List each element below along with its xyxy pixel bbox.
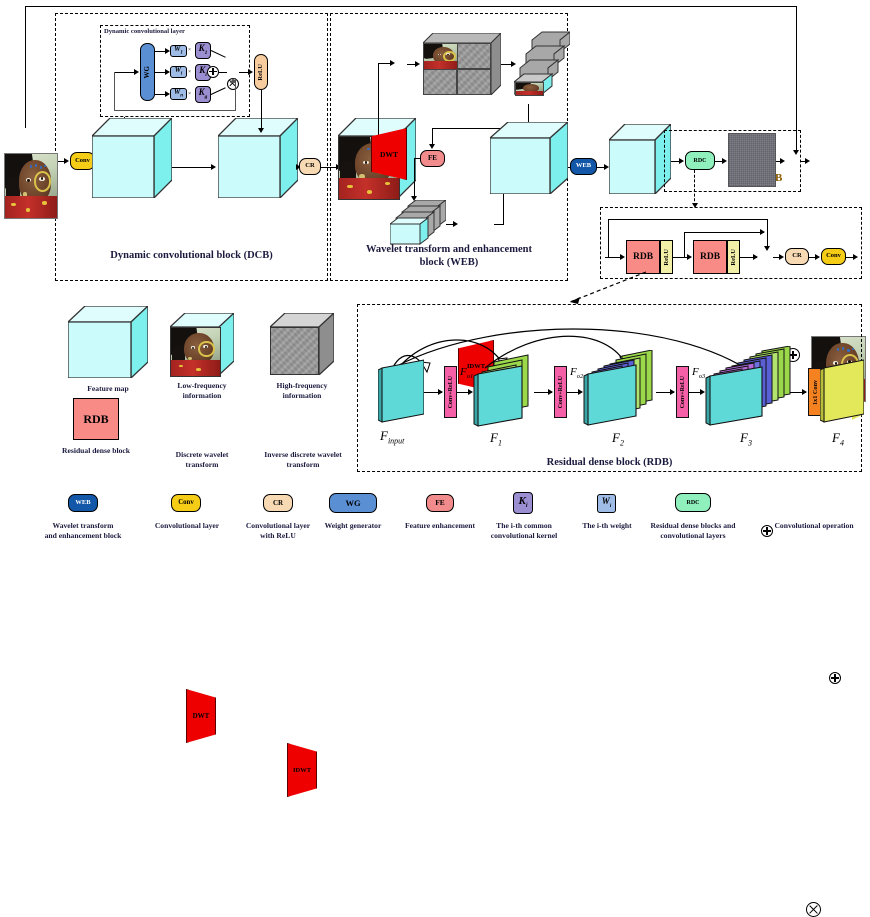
kernel-box-3[interactable]: Kg bbox=[195, 86, 211, 103]
lowfreq-highfreq-stack bbox=[390, 200, 446, 248]
weight-label-2: Wi bbox=[175, 67, 183, 76]
f1-to-cr2-arrow bbox=[548, 389, 553, 395]
dcb-caption: Dynamic convolutional block (DCB) bbox=[55, 250, 328, 263]
input-image bbox=[4, 153, 58, 219]
conv-relu-block-1[interactable]: Conv+ReLU bbox=[444, 366, 457, 418]
feature-map-cube-1 bbox=[92, 118, 172, 198]
conv-relu-block-3[interactable]: Conv+ReLU bbox=[676, 366, 689, 418]
input-to-conv-arrow bbox=[64, 158, 69, 164]
global-skip-line-left bbox=[25, 6, 26, 128]
rdb-label-f4: F4 bbox=[832, 430, 844, 448]
wg-to-w3-arrow bbox=[165, 91, 170, 97]
rdc-expand-connector bbox=[694, 170, 696, 206]
legend-dwt-icon: DWT bbox=[186, 689, 216, 743]
sum-operator-dcl bbox=[207, 66, 219, 78]
legend-high-frequency-label: High-frequency bbox=[250, 381, 354, 391]
conv-node-rdc[interactable]: Conv bbox=[821, 248, 846, 265]
legend-idwt-label: Inverse discrete wavelet bbox=[244, 450, 362, 460]
legend-feature-map-label: Feature map bbox=[58, 384, 158, 394]
legend-wg-label: Weight generator bbox=[311, 521, 395, 531]
web-caption-line1: Wavelet transform and enhancement bbox=[330, 244, 568, 257]
multiply-sign-3: × bbox=[188, 91, 191, 97]
cr-to-conv-arrow bbox=[815, 254, 820, 260]
highfreq-stack-top bbox=[514, 30, 570, 106]
fe-down-vline bbox=[414, 158, 415, 198]
relu-to-cube2-line bbox=[261, 90, 262, 130]
legend-fe-label: Feature enhancement bbox=[398, 521, 482, 531]
rdb-f2-planes bbox=[582, 350, 660, 428]
idwt-node[interactable]: IDWT bbox=[458, 340, 494, 392]
rdb-finput-plane bbox=[378, 358, 424, 424]
web-caption-line2: block (WEB) bbox=[330, 257, 568, 270]
rdb-label-2: RDB bbox=[700, 252, 720, 262]
dwt-node[interactable]: DWT bbox=[371, 128, 407, 180]
legend-rdc-icon: RDC bbox=[675, 493, 711, 512]
finput-to-cr1-arrow bbox=[438, 389, 443, 395]
legend-high-frequency-label2: information bbox=[250, 391, 354, 401]
legend-low-frequency-icon bbox=[170, 313, 234, 375]
legend-conv-operation-label: Convolutional operation bbox=[759, 521, 869, 531]
legend-rdc-label: Residual dense blocks and bbox=[637, 521, 749, 531]
conv-label-rdc: Conv bbox=[826, 253, 841, 260]
conv-relu-label-2: Conv+ReLU bbox=[558, 376, 564, 408]
legend-cr-text: CR bbox=[273, 500, 283, 507]
legend-rdb-text: RDB bbox=[83, 412, 108, 427]
cube1-to-cube2-arrow bbox=[211, 164, 216, 170]
fe-node[interactable]: FE bbox=[420, 150, 445, 167]
rdb-label-f3: F3 bbox=[740, 430, 752, 448]
rdb-label-f2: F2 bbox=[612, 430, 624, 448]
rdb-f3-planes bbox=[704, 346, 796, 430]
dcl-feedback-left bbox=[114, 72, 115, 110]
conv-1x1-label: 1x1 Conv bbox=[812, 380, 819, 405]
kernel-box-1[interactable]: K1 bbox=[195, 42, 211, 59]
rdb-f4-plane-shape bbox=[820, 356, 864, 426]
legend-wg-icon: WG bbox=[329, 493, 377, 513]
legend-low-frequency-label: Low-frequency bbox=[150, 381, 254, 391]
legend-conv-icon: Conv bbox=[171, 494, 201, 512]
legend-idwt-label2: transform bbox=[244, 460, 362, 470]
rdc-out-arrow bbox=[853, 254, 858, 260]
legend-kernel-icon: Ki bbox=[513, 492, 533, 514]
wg-node[interactable]: WG bbox=[140, 43, 155, 101]
relu-to-cube2-arrow bbox=[258, 128, 264, 133]
rdb-label-f1: F1 bbox=[490, 430, 502, 448]
legend-idwt-text: IDWT bbox=[287, 743, 317, 797]
wg-label: WG bbox=[144, 66, 151, 78]
legend-web-label2: and enhancement block bbox=[33, 531, 133, 541]
legend-fe-icon: FE bbox=[426, 494, 454, 512]
relu-label-dcl: ReLU bbox=[258, 64, 265, 81]
sum-to-mul-line bbox=[219, 72, 227, 73]
kernel-label-2: Ki bbox=[199, 66, 207, 78]
weight-box-1[interactable]: W1 bbox=[170, 45, 187, 57]
web-node-label: WEB bbox=[576, 163, 591, 170]
cr-node-rdc[interactable]: CR bbox=[785, 248, 809, 265]
rdb1-to-rdb2-arrow bbox=[687, 254, 692, 260]
web-node[interactable]: WEB bbox=[570, 158, 597, 175]
rdc-to-noise-arrow bbox=[722, 158, 727, 164]
f3-to-conv1x1-arrow bbox=[802, 389, 807, 395]
dcl-feedback-bottom bbox=[114, 110, 236, 111]
relu-node-dcl[interactable]: ReLU bbox=[254, 54, 268, 90]
legend-web-icon: WEB bbox=[68, 494, 98, 512]
pre-rdc-cube bbox=[609, 124, 671, 194]
legend-web-label: Wavelet transform bbox=[33, 521, 133, 531]
relu-label-2: ReLU bbox=[730, 249, 737, 266]
web-output-cube bbox=[490, 122, 568, 194]
legend-conv-text: Conv bbox=[178, 500, 194, 507]
rdb-block-2[interactable]: RDB bbox=[693, 240, 727, 274]
cr-node-dcb[interactable]: CR bbox=[299, 158, 321, 175]
multiply-sign-2: × bbox=[188, 69, 191, 75]
weight-label-1: W1 bbox=[174, 46, 183, 55]
dcl-input-line bbox=[115, 72, 135, 73]
global-skip-line-top bbox=[25, 6, 797, 7]
legend-wg-text: WG bbox=[345, 499, 360, 508]
multiply-sign-1: × bbox=[188, 47, 191, 53]
rdc-skip1-vline bbox=[608, 219, 609, 257]
rdc-skip2-arrow bbox=[760, 229, 765, 235]
cr-label-rdc: CR bbox=[792, 253, 801, 260]
legend-kernel-label: The i-th common bbox=[481, 521, 567, 531]
kernel-label-1: K1 bbox=[199, 44, 208, 56]
kernel-label-3: Kg bbox=[199, 88, 208, 100]
idwt-label: IDWT bbox=[458, 340, 494, 392]
legend-rdb-icon: RDB bbox=[73, 398, 119, 440]
legend-dwt-label: Discrete wavelet bbox=[150, 450, 254, 460]
rdb-label-finput: Finput bbox=[380, 428, 404, 446]
rdc-label: RDC bbox=[694, 158, 707, 164]
rdb-sum-operator bbox=[829, 672, 841, 684]
wg-to-w2-arrow bbox=[165, 69, 170, 75]
legend-conv-label: Convolutional layer bbox=[141, 521, 233, 531]
rdb-detail-caption: Residual dense block (RDB) bbox=[357, 457, 862, 470]
conv-relu-label-3: Conv+ReLU bbox=[680, 376, 686, 408]
relu-block-1[interactable]: ReLU bbox=[660, 240, 673, 274]
legend-dwt-label2: transform bbox=[150, 460, 254, 470]
stack-to-idwt-arrow bbox=[453, 221, 458, 227]
sum-to-output-arrow bbox=[805, 158, 810, 164]
cube-to-rdc-arrow bbox=[679, 158, 684, 164]
legend-dwt-text: DWT bbox=[186, 689, 216, 743]
rdb-block-1[interactable]: RDB bbox=[626, 240, 660, 274]
noise-to-sum-arrow bbox=[780, 158, 785, 164]
rdb2-to-sum-arrow bbox=[753, 254, 758, 260]
relu-block-2[interactable]: ReLU bbox=[727, 240, 740, 274]
weight-box-2[interactable]: Wi bbox=[170, 66, 187, 78]
residual-noise-image bbox=[728, 133, 776, 187]
rdc-skip2-vline bbox=[684, 232, 685, 257]
mul-to-relu-arrow bbox=[248, 69, 253, 75]
rdc-node[interactable]: RDC bbox=[685, 151, 715, 170]
cr-label-dcb: CR bbox=[305, 163, 314, 170]
sum-to-cr-arrow bbox=[779, 254, 784, 260]
weight-label-3: Wn bbox=[174, 89, 183, 98]
legend-weight-text: Wi bbox=[602, 497, 612, 509]
rdc-skip2-hline bbox=[684, 232, 764, 233]
rdc-skip1-hline bbox=[608, 219, 768, 220]
dwt-to-quad-arrow bbox=[415, 61, 420, 67]
wavelet-subband-quad bbox=[423, 33, 501, 95]
dynamic-conv-layer-caption: Dynamic convolutional layer bbox=[104, 28, 248, 35]
relu-label-1: ReLU bbox=[663, 249, 670, 266]
legend-fe-text: FE bbox=[435, 499, 445, 507]
fe-label: FE bbox=[428, 155, 437, 162]
dcl-feedback-arrow bbox=[230, 78, 236, 83]
legend-web-text: WEB bbox=[75, 500, 90, 507]
rdb-label-1: RDB bbox=[633, 252, 653, 262]
weight-box-3[interactable]: Wn bbox=[170, 88, 187, 100]
legend-rdb-label: Residual dense block bbox=[48, 446, 144, 456]
legend-rdc-label2: convolutional layers bbox=[637, 531, 749, 541]
conv-relu-block-2[interactable]: Conv+ReLU bbox=[554, 366, 567, 418]
rdb-expand-connector bbox=[560, 270, 650, 306]
legend-cr-label2: with ReLU bbox=[232, 531, 324, 541]
legend-kernel-label2: convolutional kernel bbox=[481, 531, 567, 541]
rdc-skip1-arrow bbox=[764, 246, 770, 251]
conv-relu-label-1: Conv+ReLU bbox=[448, 376, 454, 408]
rdc-chain-in-arrow bbox=[620, 254, 625, 260]
legend-weight-icon: Wi bbox=[597, 494, 616, 513]
legend-conv-operation-icon bbox=[806, 902, 821, 917]
conv-label-dcb: Conv bbox=[75, 158, 90, 165]
dwt-label: DWT bbox=[371, 128, 407, 180]
legend-cr-icon: CR bbox=[263, 494, 293, 512]
fe-left-hline bbox=[414, 158, 421, 159]
legend-low-frequency-label2: information bbox=[150, 391, 254, 401]
legend-idwt-icon: IDWT bbox=[287, 743, 317, 797]
rdc-skip1-down bbox=[767, 219, 768, 249]
cube1-to-cube2-line bbox=[172, 167, 212, 168]
legend-kernel-text: Ki bbox=[518, 496, 527, 509]
legend-rdc-text: RDC bbox=[687, 500, 700, 506]
dcl-input-arrow bbox=[134, 69, 139, 75]
legend-feature-map-icon bbox=[68, 306, 148, 378]
idwt-out-hline bbox=[494, 224, 504, 225]
webcube-to-dwt-arrow bbox=[390, 60, 395, 66]
legend-high-frequency-icon bbox=[270, 313, 334, 375]
stack-to-fe-arrow bbox=[429, 144, 435, 149]
wg-to-w1-arrow bbox=[165, 48, 170, 54]
figure-canvas: Dynamic convolutional block (DCB) Dynami… bbox=[0, 0, 870, 562]
f2-to-cr3-arrow bbox=[670, 389, 675, 395]
